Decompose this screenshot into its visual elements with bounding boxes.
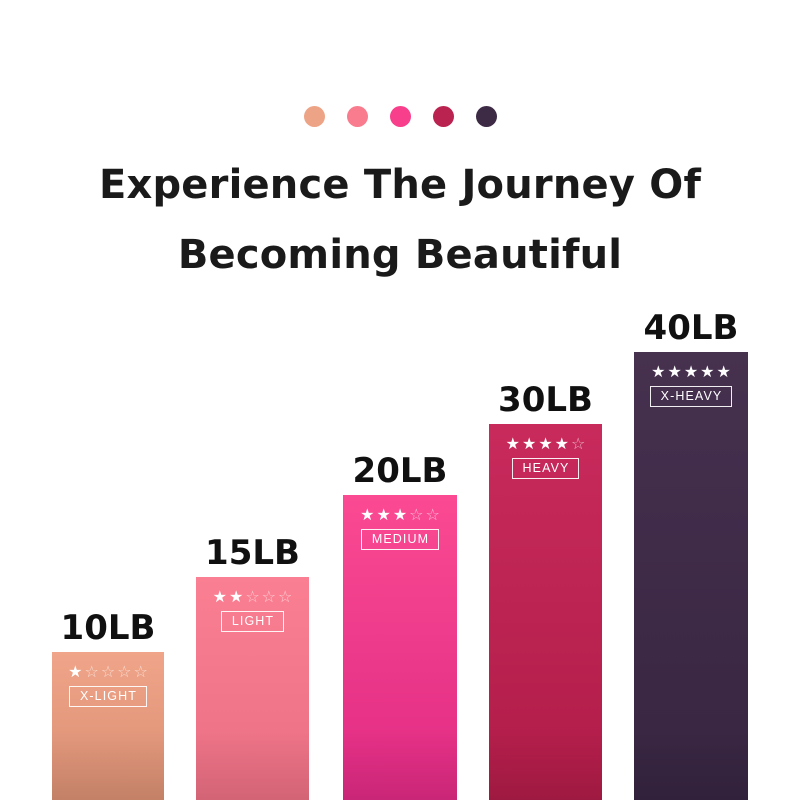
resistance-band-bar-chart: 10LB★☆☆☆☆X-LIGHT15LB★★☆☆☆LIGHT20LB★★★☆☆M… [0,0,800,800]
bar-20lb-weight-label: 20LB [327,451,473,491]
star-filled-icon: ★ [68,664,82,680]
bar-10lb-group[interactable]: 10LB★☆☆☆☆X-LIGHT [52,606,164,800]
star-filled-icon: ★ [684,364,698,380]
bar-30lb-group[interactable]: 30LB★★★★☆HEAVY [489,378,602,800]
bar-30lb[interactable]: ★★★★☆HEAVY [489,424,602,800]
bar-30lb-badge: ★★★★☆HEAVY [489,436,602,479]
bar-30lb-level-label: HEAVY [512,458,580,479]
bar-30lb-bottom-shade [489,730,602,800]
star-filled-icon: ★ [376,507,390,523]
star-empty-icon: ☆ [278,589,292,605]
star-empty-icon: ☆ [426,507,440,523]
bar-20lb[interactable]: ★★★☆☆MEDIUM [343,495,457,800]
bar-10lb-level-label: X-LIGHT [69,686,147,707]
bar-20lb-badge: ★★★☆☆MEDIUM [343,507,457,550]
star-filled-icon: ★ [700,364,714,380]
bar-10lb-star-rating: ★☆☆☆☆ [68,664,148,680]
bar-30lb-weight-label: 30LB [473,380,618,420]
star-filled-icon: ★ [213,589,227,605]
star-empty-icon: ☆ [117,664,131,680]
bar-30lb-star-rating: ★★★★☆ [506,436,586,452]
bar-15lb-group[interactable]: 15LB★★☆☆☆LIGHT [196,531,309,800]
bar-20lb-bottom-shade [343,730,457,800]
star-filled-icon: ★ [538,436,552,452]
bar-40lb-group[interactable]: 40LB★★★★★X-HEAVY [634,306,748,800]
star-empty-icon: ☆ [409,507,423,523]
bar-15lb-star-rating: ★★☆☆☆ [213,589,293,605]
bar-40lb-level-label: X-HEAVY [650,386,733,407]
star-empty-icon: ☆ [245,589,259,605]
bar-10lb-badge: ★☆☆☆☆X-LIGHT [52,664,164,707]
star-filled-icon: ★ [506,436,520,452]
bar-15lb-bottom-shade [196,730,309,800]
bar-20lb-group[interactable]: 20LB★★★☆☆MEDIUM [343,449,457,800]
bar-15lb[interactable]: ★★☆☆☆LIGHT [196,577,309,800]
bar-40lb-badge: ★★★★★X-HEAVY [634,364,748,407]
bar-10lb-weight-label: 10LB [36,608,180,648]
product-infographic: Experience The Journey Of Becoming Beaut… [0,0,800,800]
bar-10lb[interactable]: ★☆☆☆☆X-LIGHT [52,652,164,800]
bar-20lb-level-label: MEDIUM [361,529,439,550]
star-filled-icon: ★ [393,507,407,523]
bar-15lb-badge: ★★☆☆☆LIGHT [196,589,309,632]
star-filled-icon: ★ [717,364,731,380]
star-filled-icon: ★ [555,436,569,452]
bar-20lb-star-rating: ★★★☆☆ [360,507,440,523]
bar-40lb-star-rating: ★★★★★ [651,364,731,380]
star-empty-icon: ☆ [134,664,148,680]
bar-10lb-bottom-shade [52,730,164,800]
star-filled-icon: ★ [651,364,665,380]
star-empty-icon: ☆ [101,664,115,680]
star-filled-icon: ★ [667,364,681,380]
star-empty-icon: ☆ [84,664,98,680]
bar-40lb-bottom-shade [634,730,748,800]
star-empty-icon: ☆ [571,436,585,452]
star-empty-icon: ☆ [262,589,276,605]
bar-15lb-weight-label: 15LB [180,533,325,573]
bar-15lb-level-label: LIGHT [221,611,284,632]
bar-40lb[interactable]: ★★★★★X-HEAVY [634,352,748,800]
star-filled-icon: ★ [360,507,374,523]
star-filled-icon: ★ [229,589,243,605]
bar-40lb-weight-label: 40LB [618,308,764,348]
star-filled-icon: ★ [522,436,536,452]
